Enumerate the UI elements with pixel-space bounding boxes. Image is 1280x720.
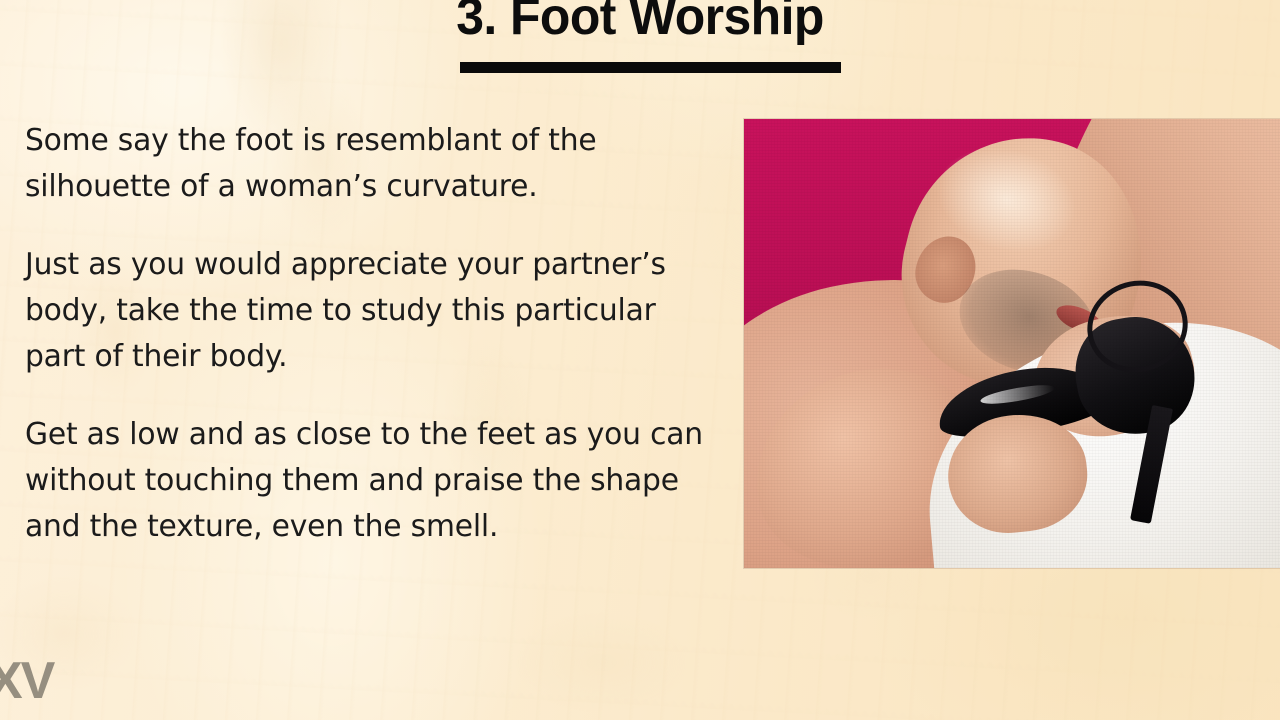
video-watermark: XV	[0, 655, 53, 707]
illustration-photo	[744, 119, 1280, 568]
body-paragraph: Some say the foot is resemblant of the s…	[25, 118, 708, 210]
slide-canvas: 3. Foot Worship Some say the foot is res…	[0, 0, 1280, 720]
body-text-column: Some say the foot is resemblant of the s…	[25, 118, 725, 550]
photo-grain-overlay	[744, 119, 1280, 568]
body-paragraph: Get as low and as close to the feet as y…	[25, 412, 708, 550]
body-paragraph: Just as you would appreciate your partne…	[25, 242, 708, 380]
title-underline-rule	[460, 62, 841, 73]
slide-title: 3. Foot Worship	[26, 0, 1255, 46]
